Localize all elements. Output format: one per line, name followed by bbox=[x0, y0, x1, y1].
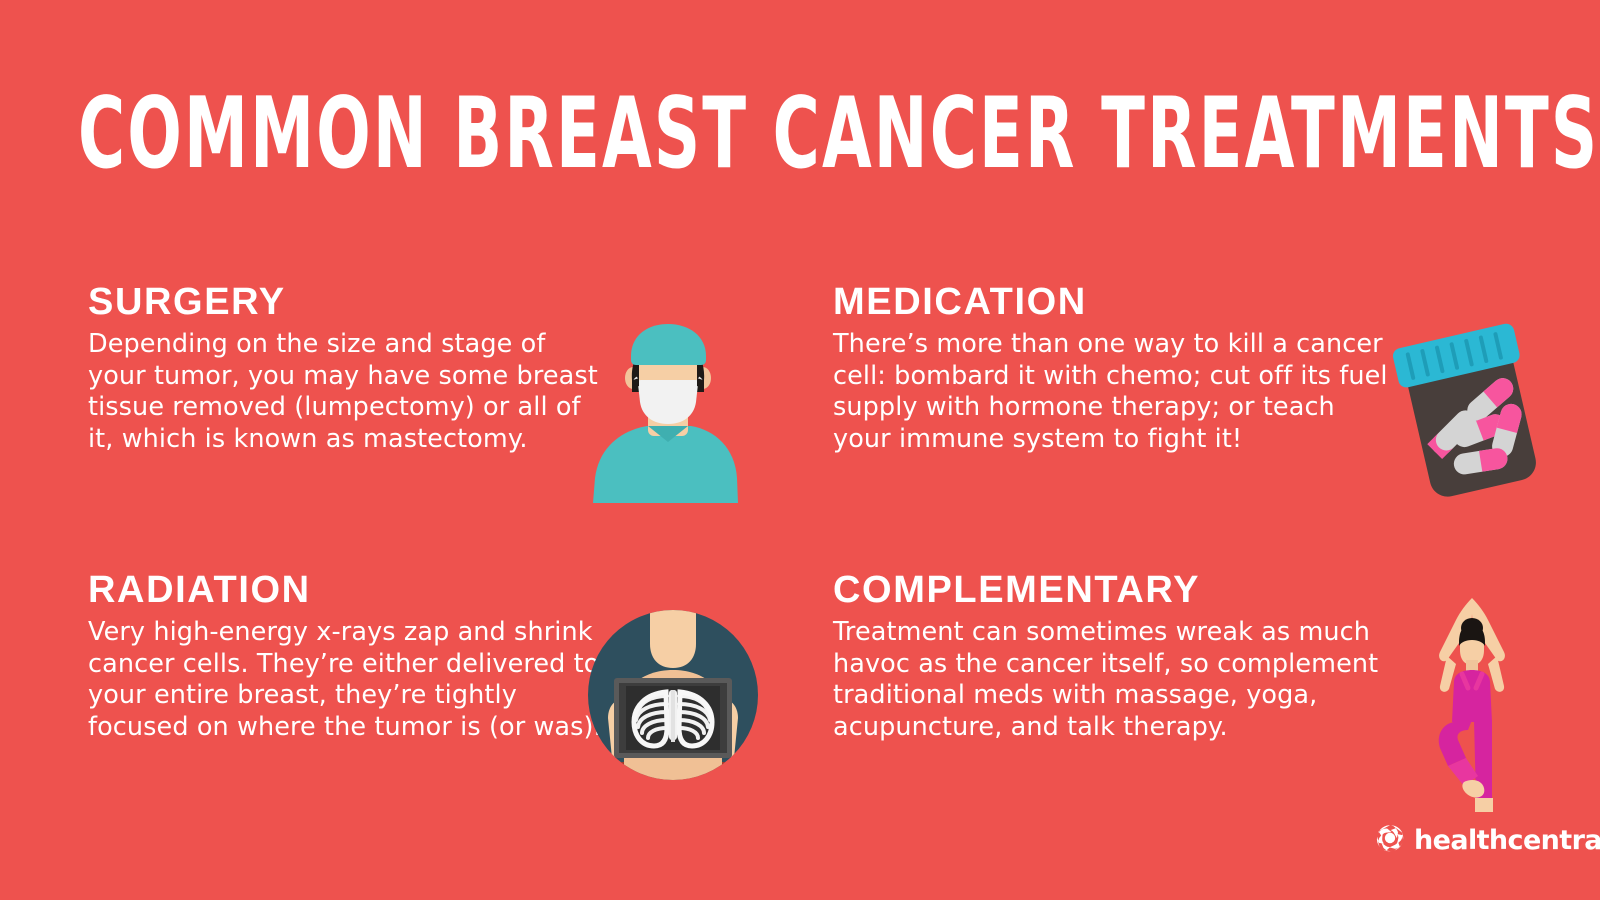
infographic-canvas: COMMON BREAST CANCER TREATMENTS SURGERY … bbox=[0, 0, 1600, 900]
panel-radiation-heading: RADIATION bbox=[88, 570, 608, 610]
logo-wordmark: healthcentral bbox=[1414, 827, 1600, 854]
healthcentral-logo[interactable]: healthcentral bbox=[1375, 823, 1600, 858]
panel-medication-heading: MEDICATION bbox=[833, 282, 1393, 322]
panel-surgery: SURGERY Depending on the size and stage … bbox=[88, 282, 608, 455]
pill-bottle-icon bbox=[1378, 320, 1563, 505]
panel-radiation: RADIATION Very high-energy x-rays zap an… bbox=[88, 570, 608, 743]
panel-medication-body: There’s more than one way to kill a canc… bbox=[833, 329, 1393, 455]
panel-surgery-body: Depending on the size and stage of your … bbox=[88, 329, 608, 455]
panel-complementary-body: Treatment can sometimes wreak as much ha… bbox=[833, 617, 1403, 743]
panel-radiation-body: Very high-energy x-rays zap and shrink c… bbox=[88, 617, 608, 743]
panel-complementary: COMPLEMENTARY Treatment can sometimes wr… bbox=[833, 570, 1403, 743]
panel-complementary-heading: COMPLEMENTARY bbox=[833, 570, 1403, 610]
panel-medication: MEDICATION There’s more than one way to … bbox=[833, 282, 1393, 455]
yoga-pose-icon bbox=[1392, 590, 1552, 815]
page-title: COMMON BREAST CANCER TREATMENTS bbox=[78, 83, 1325, 184]
aperture-icon bbox=[1375, 823, 1405, 858]
xray-icon bbox=[578, 600, 768, 790]
surgeon-icon bbox=[575, 318, 755, 503]
panel-surgery-heading: SURGERY bbox=[88, 282, 608, 322]
